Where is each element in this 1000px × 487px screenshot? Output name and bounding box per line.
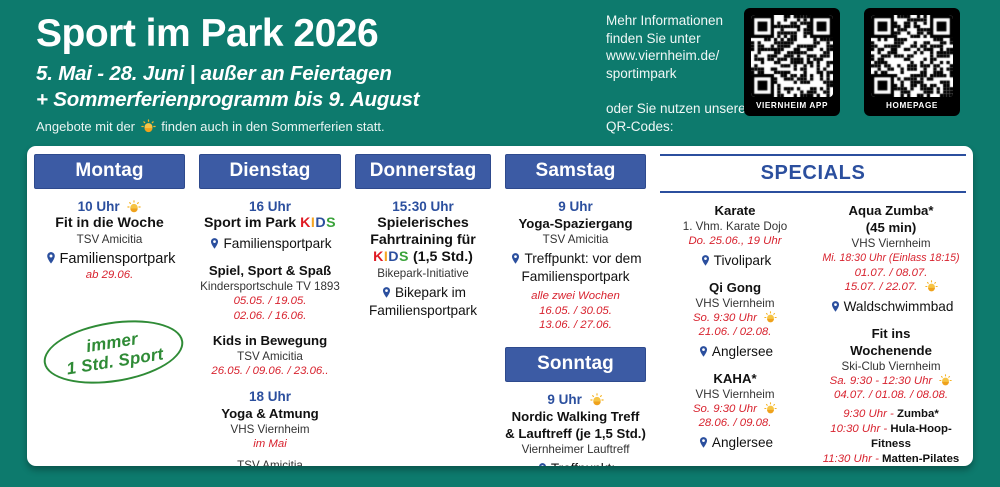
sublist-name: Zumba* bbox=[897, 408, 939, 420]
entry-kaha: KAHA* VHS Viernheim So. 9:30 Uhr 28.06. … bbox=[660, 370, 810, 452]
entry-title: Sport im Park KIDS bbox=[196, 215, 344, 232]
entry-title-suffix: (1,5 Std.) bbox=[413, 249, 473, 265]
kids-logo: KIDS bbox=[373, 249, 409, 265]
sun-icon bbox=[127, 200, 141, 214]
entry-dates-line-2: 21.06. / 02.08. bbox=[660, 325, 810, 340]
entry-dates-line-2: 16.05. / 30.05. bbox=[502, 304, 649, 319]
entry-yoga-atmung-juni: TSV Amicitia im Juni bis 23.06. Museumsg… bbox=[196, 458, 344, 466]
entry-dates-line-1: Sa. 9:30 - 12:30 Uhr bbox=[816, 374, 966, 389]
entry-title: Qi Gong bbox=[660, 279, 810, 296]
subtitle-line-1: 5. Mai - 28. Juni | außer an Feiertagen bbox=[36, 61, 596, 87]
entry-organizer: TSV Amicitia bbox=[31, 232, 188, 247]
sun-icon bbox=[590, 393, 604, 407]
sublist-time: 11:30 Uhr bbox=[823, 453, 872, 465]
entry-place-line-1: Treffpunkt: vor dem bbox=[502, 250, 649, 268]
entry-place: Familiensportpark bbox=[196, 235, 344, 253]
specials-left: Karate 1. Vhm. Karate Dojo Do. 25.06., 1… bbox=[657, 193, 813, 466]
sun-icon bbox=[925, 280, 938, 293]
entry-organizer: VHS Viernheim bbox=[196, 422, 344, 437]
entry-title-line-3: KIDS (1,5 Std.) bbox=[352, 249, 494, 266]
entry-organizer: TSV Amicitia bbox=[502, 232, 649, 247]
sun-icon bbox=[141, 119, 156, 134]
location-pin-icon bbox=[509, 251, 522, 266]
entry-organizer: Ski-Club Viernheim bbox=[816, 359, 966, 374]
entry-place-text: Familiensportpark bbox=[60, 251, 176, 267]
entry-dates: ab 29.06. bbox=[31, 268, 188, 283]
entry-sublist: 9:30 Uhr - Zumba* 10:30 Uhr - Hula-Hoop-… bbox=[816, 407, 966, 467]
entry-time: 16 Uhr bbox=[196, 198, 344, 215]
entry-title: Yoga & Atmung bbox=[196, 405, 344, 422]
entry-place: Familiensportpark bbox=[31, 250, 188, 268]
entry-place: Waldschwimmbad bbox=[816, 298, 966, 316]
entry-time: 9 Uhr bbox=[502, 391, 649, 408]
poster: Sport im Park 2026 5. Mai - 28. Juni | a… bbox=[0, 0, 1000, 487]
entry-time: 9 Uhr bbox=[502, 198, 649, 215]
day-header-samstag: Samstag bbox=[505, 154, 646, 189]
sublist-item: 9:30 Uhr - Zumba* bbox=[816, 407, 966, 422]
entry-place-line-1: Treffpunkt: bbox=[502, 460, 649, 467]
entry-place-line-2: Familiensportpark bbox=[352, 302, 494, 320]
entry-organizer: TSV Amicitia bbox=[196, 458, 344, 466]
header-subtitle: 5. Mai - 28. Juni | außer an Feiertagen … bbox=[36, 61, 596, 113]
entry-qi-gong: Qi Gong VHS Viernheim So. 9:30 Uhr 21.06… bbox=[660, 279, 810, 361]
entry-sport-im-park-kids: 16 Uhr Sport im Park KIDS Familiensportp… bbox=[196, 198, 344, 253]
day-header-montag: Montag bbox=[34, 154, 185, 189]
sublist-item: 10:30 Uhr - Hula-Hoop-Fitness bbox=[816, 422, 966, 452]
entry-place-text: Anglersee bbox=[712, 435, 773, 450]
entry-time-text: 10 Uhr bbox=[78, 199, 120, 214]
entry-place-text: Waldschwimmbad bbox=[844, 299, 954, 314]
entry-fit-in-die-woche: 10 Uhr Fit in die Woche TSV Amicitia Fam… bbox=[31, 198, 188, 283]
qr-home-image bbox=[871, 15, 953, 97]
entry-place-text-1: Treffpunkt: vor dem bbox=[524, 251, 641, 266]
kids-logo: KIDS bbox=[300, 215, 336, 231]
note-after-text: finden auch in den Sommerferien statt. bbox=[161, 119, 384, 134]
entry-title-line-1: Aqua Zumba* bbox=[816, 202, 966, 219]
entry-dates-line-3: 13.06. / 27.06. bbox=[502, 318, 649, 333]
entry-title-line-2: Fahrtraining für bbox=[352, 232, 494, 249]
entry-kids-in-bewegung: Kids in Bewegung TSV Amicitia 26.05. / 0… bbox=[196, 332, 344, 379]
column-samstag-sonntag: Samstag 9 Uhr Yoga-Spaziergang TSV Amici… bbox=[498, 146, 653, 466]
entry-place: Anglersee bbox=[660, 434, 810, 452]
info-paragraph: Mehr Informationen finden Sie unter www.… bbox=[606, 12, 756, 82]
location-pin-icon bbox=[208, 236, 221, 251]
entry-dates: 26.05. / 09.06. / 23.06.. bbox=[196, 364, 344, 379]
location-pin-icon bbox=[536, 461, 549, 467]
qr-app-caption: VIERNHEIM APP bbox=[756, 97, 828, 113]
entry-dates-line-2: 02.06. / 16.06. bbox=[196, 309, 344, 324]
entry-organizer: Kindersportschule TV 1893 bbox=[196, 279, 344, 294]
entry-time-text: 9 Uhr bbox=[547, 392, 582, 407]
header-note: Angebote mit der finden auch in den Somm… bbox=[36, 119, 596, 135]
location-pin-icon bbox=[697, 435, 710, 450]
entry-organizer: VHS Viernheim bbox=[660, 296, 810, 311]
entry-place-line-1: Bikepark im bbox=[352, 284, 494, 302]
qr-instruction: oder Sie nutzen unsere QR-Codes: bbox=[606, 100, 756, 135]
header-left: Sport im Park 2026 5. Mai - 28. Juni | a… bbox=[36, 12, 596, 135]
column-specials: SPECIALS Karate 1. Vhm. Karate Dojo Do. … bbox=[653, 146, 973, 466]
entry-time: 15:30 Uhr bbox=[352, 198, 494, 215]
entry-aqua-zumba: Aqua Zumba* (45 min) VHS Viernheim Mi. 1… bbox=[816, 202, 966, 316]
entry-place-text-1: Treffpunkt: bbox=[551, 461, 615, 467]
entry-place-text-1: Bikepark im bbox=[395, 285, 466, 300]
qr-app-image bbox=[751, 15, 833, 97]
entry-dates-text-1: Sa. 9:30 - 12:30 Uhr bbox=[830, 375, 933, 387]
entry-title-line-2: & Lauftreff (je 1,5 Std.) bbox=[502, 425, 649, 442]
sublist-name: Matten-Pilates bbox=[882, 453, 959, 465]
subtitle-line-2: + Sommerferienprogramm bis 9. August bbox=[36, 87, 596, 113]
sun-icon bbox=[764, 311, 777, 324]
location-pin-icon bbox=[829, 299, 842, 314]
sun-icon bbox=[939, 374, 952, 387]
column-donnerstag: Donnerstag 15:30 Uhr Spielerisches Fahrt… bbox=[348, 146, 498, 466]
qr-code-homepage[interactable]: HOMEPAGE bbox=[864, 8, 960, 116]
entry-dates: im Mai bbox=[196, 437, 344, 452]
entry-spielerisches-fahrtraining: 15:30 Uhr Spielerisches Fahrtraining für… bbox=[352, 198, 494, 320]
entry-time: 10 Uhr bbox=[31, 198, 188, 215]
entry-place: Tivolipark bbox=[660, 252, 810, 270]
entry-organizer: VHS Viernheim bbox=[816, 236, 966, 251]
entry-yoga-spaziergang: 9 Uhr Yoga-Spaziergang TSV Amicitia Tref… bbox=[502, 198, 649, 333]
entry-dates-line-1: Mi. 18:30 Uhr (Einlass 18:15) bbox=[816, 251, 966, 266]
entry-dates-line-2: 28.06. / 09.08. bbox=[660, 416, 810, 431]
stamp-immer-1-std-sport: immer 1 Std. Sport bbox=[39, 311, 188, 392]
location-pin-icon bbox=[44, 250, 58, 266]
entry-time: 18 Uhr bbox=[196, 388, 344, 405]
entry-dates-line-1: alle zwei Wochen bbox=[502, 289, 649, 304]
entry-place-text: Tivolipark bbox=[714, 253, 772, 268]
sublist-time: 10:30 Uhr bbox=[830, 423, 880, 435]
entry-organizer: Viernheimer Lauftreff bbox=[502, 442, 649, 457]
entry-yoga-atmung: 18 Uhr Yoga & Atmung VHS Viernheim im Ma… bbox=[196, 388, 344, 452]
note-before-text: Angebote mit der bbox=[36, 119, 135, 134]
sublist-time: 9:30 Uhr bbox=[843, 408, 887, 420]
poster-header: Sport im Park 2026 5. Mai - 28. Juni | a… bbox=[0, 0, 1000, 146]
entry-dates-text-1: So. 9:30 Uhr bbox=[693, 403, 757, 415]
entry-organizer: 1. Vhm. Karate Dojo bbox=[660, 219, 810, 234]
qr-home-caption: HOMEPAGE bbox=[886, 97, 938, 113]
entry-dates-text-1: So. 9:30 Uhr bbox=[693, 312, 757, 324]
entry-dates-line-1: 05.05. / 19.05. bbox=[196, 294, 344, 309]
page-title: Sport im Park 2026 bbox=[36, 12, 596, 56]
sublist-item: 11:30 Uhr - Matten-Pilates bbox=[816, 452, 966, 467]
specials-right: Aqua Zumba* (45 min) VHS Viernheim Mi. 1… bbox=[813, 193, 969, 466]
day-header-donnerstag: Donnerstag bbox=[355, 154, 491, 189]
entry-title-line-1: Fit ins bbox=[816, 325, 966, 342]
entry-dates: Do. 25.06., 19 Uhr bbox=[660, 234, 810, 249]
entry-title: Yoga-Spaziergang bbox=[502, 215, 649, 232]
specials-header: SPECIALS bbox=[660, 154, 966, 193]
entry-dates-line-1: So. 9:30 Uhr bbox=[660, 402, 810, 417]
entry-place-text: Familiensportpark bbox=[223, 236, 331, 251]
entry-dates-line-1: So. 9:30 Uhr bbox=[660, 311, 810, 326]
column-montag: Montag 10 Uhr Fit in die Woche TSV Amici… bbox=[27, 146, 192, 466]
entry-title-text: Sport im Park bbox=[204, 215, 296, 231]
entry-spiel-sport-spass: Spiel, Sport & Spaß Kindersportschule TV… bbox=[196, 262, 344, 323]
entry-title: KAHA* bbox=[660, 370, 810, 387]
entry-dates-line-2: 04.07. / 01.08. / 08.08. bbox=[816, 388, 966, 403]
entry-organizer: VHS Viernheim bbox=[660, 387, 810, 402]
entry-dates-line-2: 01.07. / 08.07. bbox=[816, 266, 966, 281]
entry-title: Kids in Bewegung bbox=[196, 332, 344, 349]
entry-title: Spiel, Sport & Spaß bbox=[196, 262, 344, 279]
entry-dates-line-3: 15.07. / 22.07. bbox=[816, 280, 966, 295]
entry-dates-text-3: 15.07. / 22.07. bbox=[844, 281, 917, 293]
entry-organizer: TSV Amicitia bbox=[196, 349, 344, 364]
entry-nordic-walking: 9 Uhr Nordic Walking Treff & Lauftreff (… bbox=[502, 391, 649, 467]
entry-title-line-2: (45 min) bbox=[816, 219, 966, 236]
day-header-dienstag: Dienstag bbox=[199, 154, 341, 189]
entry-place-line-2: Familiensportpark bbox=[502, 268, 649, 286]
entry-title-line-2: Wochenende bbox=[816, 342, 966, 359]
entry-title-line-1: Nordic Walking Treff bbox=[502, 408, 649, 425]
entry-organizer: Bikepark-Initiative bbox=[352, 266, 494, 281]
schedule-card: Montag 10 Uhr Fit in die Woche TSV Amici… bbox=[27, 146, 973, 466]
entry-title-line-1: Spielerisches bbox=[352, 215, 494, 232]
sun-icon bbox=[764, 402, 777, 415]
header-info-text: Mehr Informationen finden Sie unter www.… bbox=[606, 12, 756, 135]
column-dienstag: Dienstag 16 Uhr Sport im Park KIDS Famil… bbox=[192, 146, 348, 466]
entry-place-text: Anglersee bbox=[712, 344, 773, 359]
entry-title: Karate bbox=[660, 202, 810, 219]
entry-fit-ins-wochenende: Fit ins Wochenende Ski-Club Viernheim Sa… bbox=[816, 325, 966, 467]
day-header-sonntag: Sonntag bbox=[505, 347, 646, 382]
qr-code-app[interactable]: VIERNHEIM APP bbox=[744, 8, 840, 116]
location-pin-icon bbox=[699, 253, 712, 268]
location-pin-icon bbox=[697, 344, 710, 359]
location-pin-icon bbox=[380, 285, 393, 300]
entry-title: Fit in die Woche bbox=[31, 215, 188, 232]
entry-karate: Karate 1. Vhm. Karate Dojo Do. 25.06., 1… bbox=[660, 202, 810, 270]
entry-place: Anglersee bbox=[660, 343, 810, 361]
